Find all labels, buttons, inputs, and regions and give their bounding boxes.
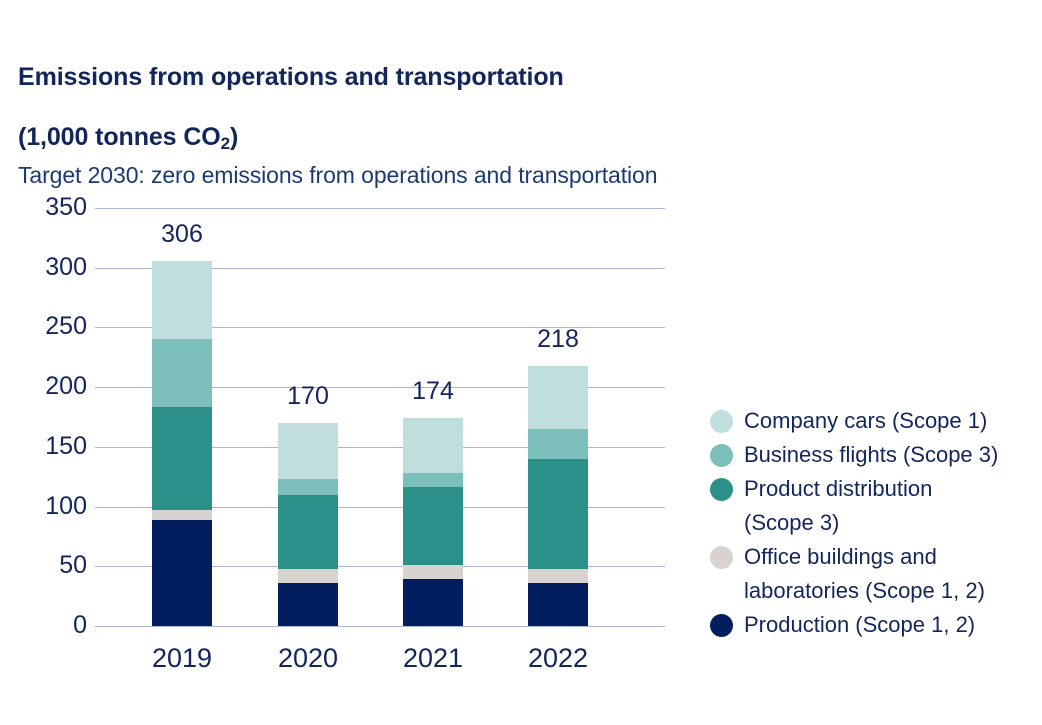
bar-segment[interactable] <box>152 407 212 510</box>
bar-segment[interactable] <box>152 261 212 340</box>
bar-2021[interactable]: 174 <box>403 208 463 626</box>
y-axis-tick-label: 200 <box>15 374 87 399</box>
legend-item-label: Company cars (Scope 1) <box>744 404 987 438</box>
legend-item-label: Product distribution (Scope 3) <box>744 472 932 540</box>
y-axis-tick-label: 350 <box>15 195 87 220</box>
y-axis-tick-label: 150 <box>15 434 87 459</box>
legend-item-label: Business flights (Scope 3) <box>744 438 998 472</box>
legend-dot-icon <box>710 444 733 467</box>
bar-segment[interactable] <box>403 487 463 565</box>
bar-total-label: 306 <box>122 220 242 249</box>
bar-segment[interactable] <box>528 459 588 569</box>
y-axis-tick-label: 50 <box>15 553 87 578</box>
legend-dot-icon <box>710 614 733 637</box>
bar-segment[interactable] <box>278 583 338 626</box>
bar-segment[interactable] <box>528 569 588 583</box>
y-axis-tick-label: 0 <box>15 613 87 638</box>
legend-item-label: Production (Scope 1, 2) <box>744 608 975 642</box>
bar-segment[interactable] <box>152 339 212 407</box>
bar-segment[interactable] <box>152 520 212 626</box>
bar-segment[interactable] <box>403 418 463 473</box>
bar-segment[interactable] <box>278 569 338 583</box>
bar-segment[interactable] <box>278 479 338 495</box>
chart-plot-area: 050100150200250300350 306170174218 20192… <box>95 208 665 626</box>
bar-segment[interactable] <box>403 473 463 487</box>
y-axis-tick-label: 100 <box>15 494 87 519</box>
legend-item[interactable]: Production (Scope 1, 2) <box>710 608 1040 642</box>
legend-dot-icon <box>710 410 733 433</box>
chart-legend: Company cars (Scope 1)Business flights (… <box>710 404 1040 642</box>
bar-segment[interactable] <box>403 579 463 626</box>
y-axis-tick-label: 300 <box>15 255 87 280</box>
bar-total-label: 174 <box>373 377 493 406</box>
bar-segment[interactable] <box>528 583 588 626</box>
bar-2020[interactable]: 170 <box>278 208 338 626</box>
legend-item[interactable]: Company cars (Scope 1) <box>710 404 1040 438</box>
bar-total-label: 170 <box>248 382 368 411</box>
bar-total-label: 218 <box>498 325 618 354</box>
bar-segment[interactable] <box>528 429 588 459</box>
legend-item[interactable]: Office buildings and laboratories (Scope… <box>710 540 1040 608</box>
legend-item[interactable]: Product distribution (Scope 3) <box>710 472 1040 540</box>
legend-item[interactable]: Business flights (Scope 3) <box>710 438 1040 472</box>
bar-segment[interactable] <box>278 495 338 569</box>
bar-2022[interactable]: 218 <box>528 208 588 626</box>
bar-segment[interactable] <box>278 423 338 479</box>
legend-dot-icon <box>710 546 733 569</box>
x-axis-tick-label-2022: 2022 <box>478 643 638 674</box>
gridline <box>95 626 665 627</box>
bar-segment[interactable] <box>528 366 588 429</box>
legend-item-label: Office buildings and laboratories (Scope… <box>744 540 985 608</box>
bar-2019[interactable]: 306 <box>152 208 212 626</box>
legend-dot-icon <box>710 478 733 501</box>
y-axis-tick-label: 250 <box>15 314 87 339</box>
bar-segment[interactable] <box>152 510 212 520</box>
bar-segment[interactable] <box>403 565 463 579</box>
